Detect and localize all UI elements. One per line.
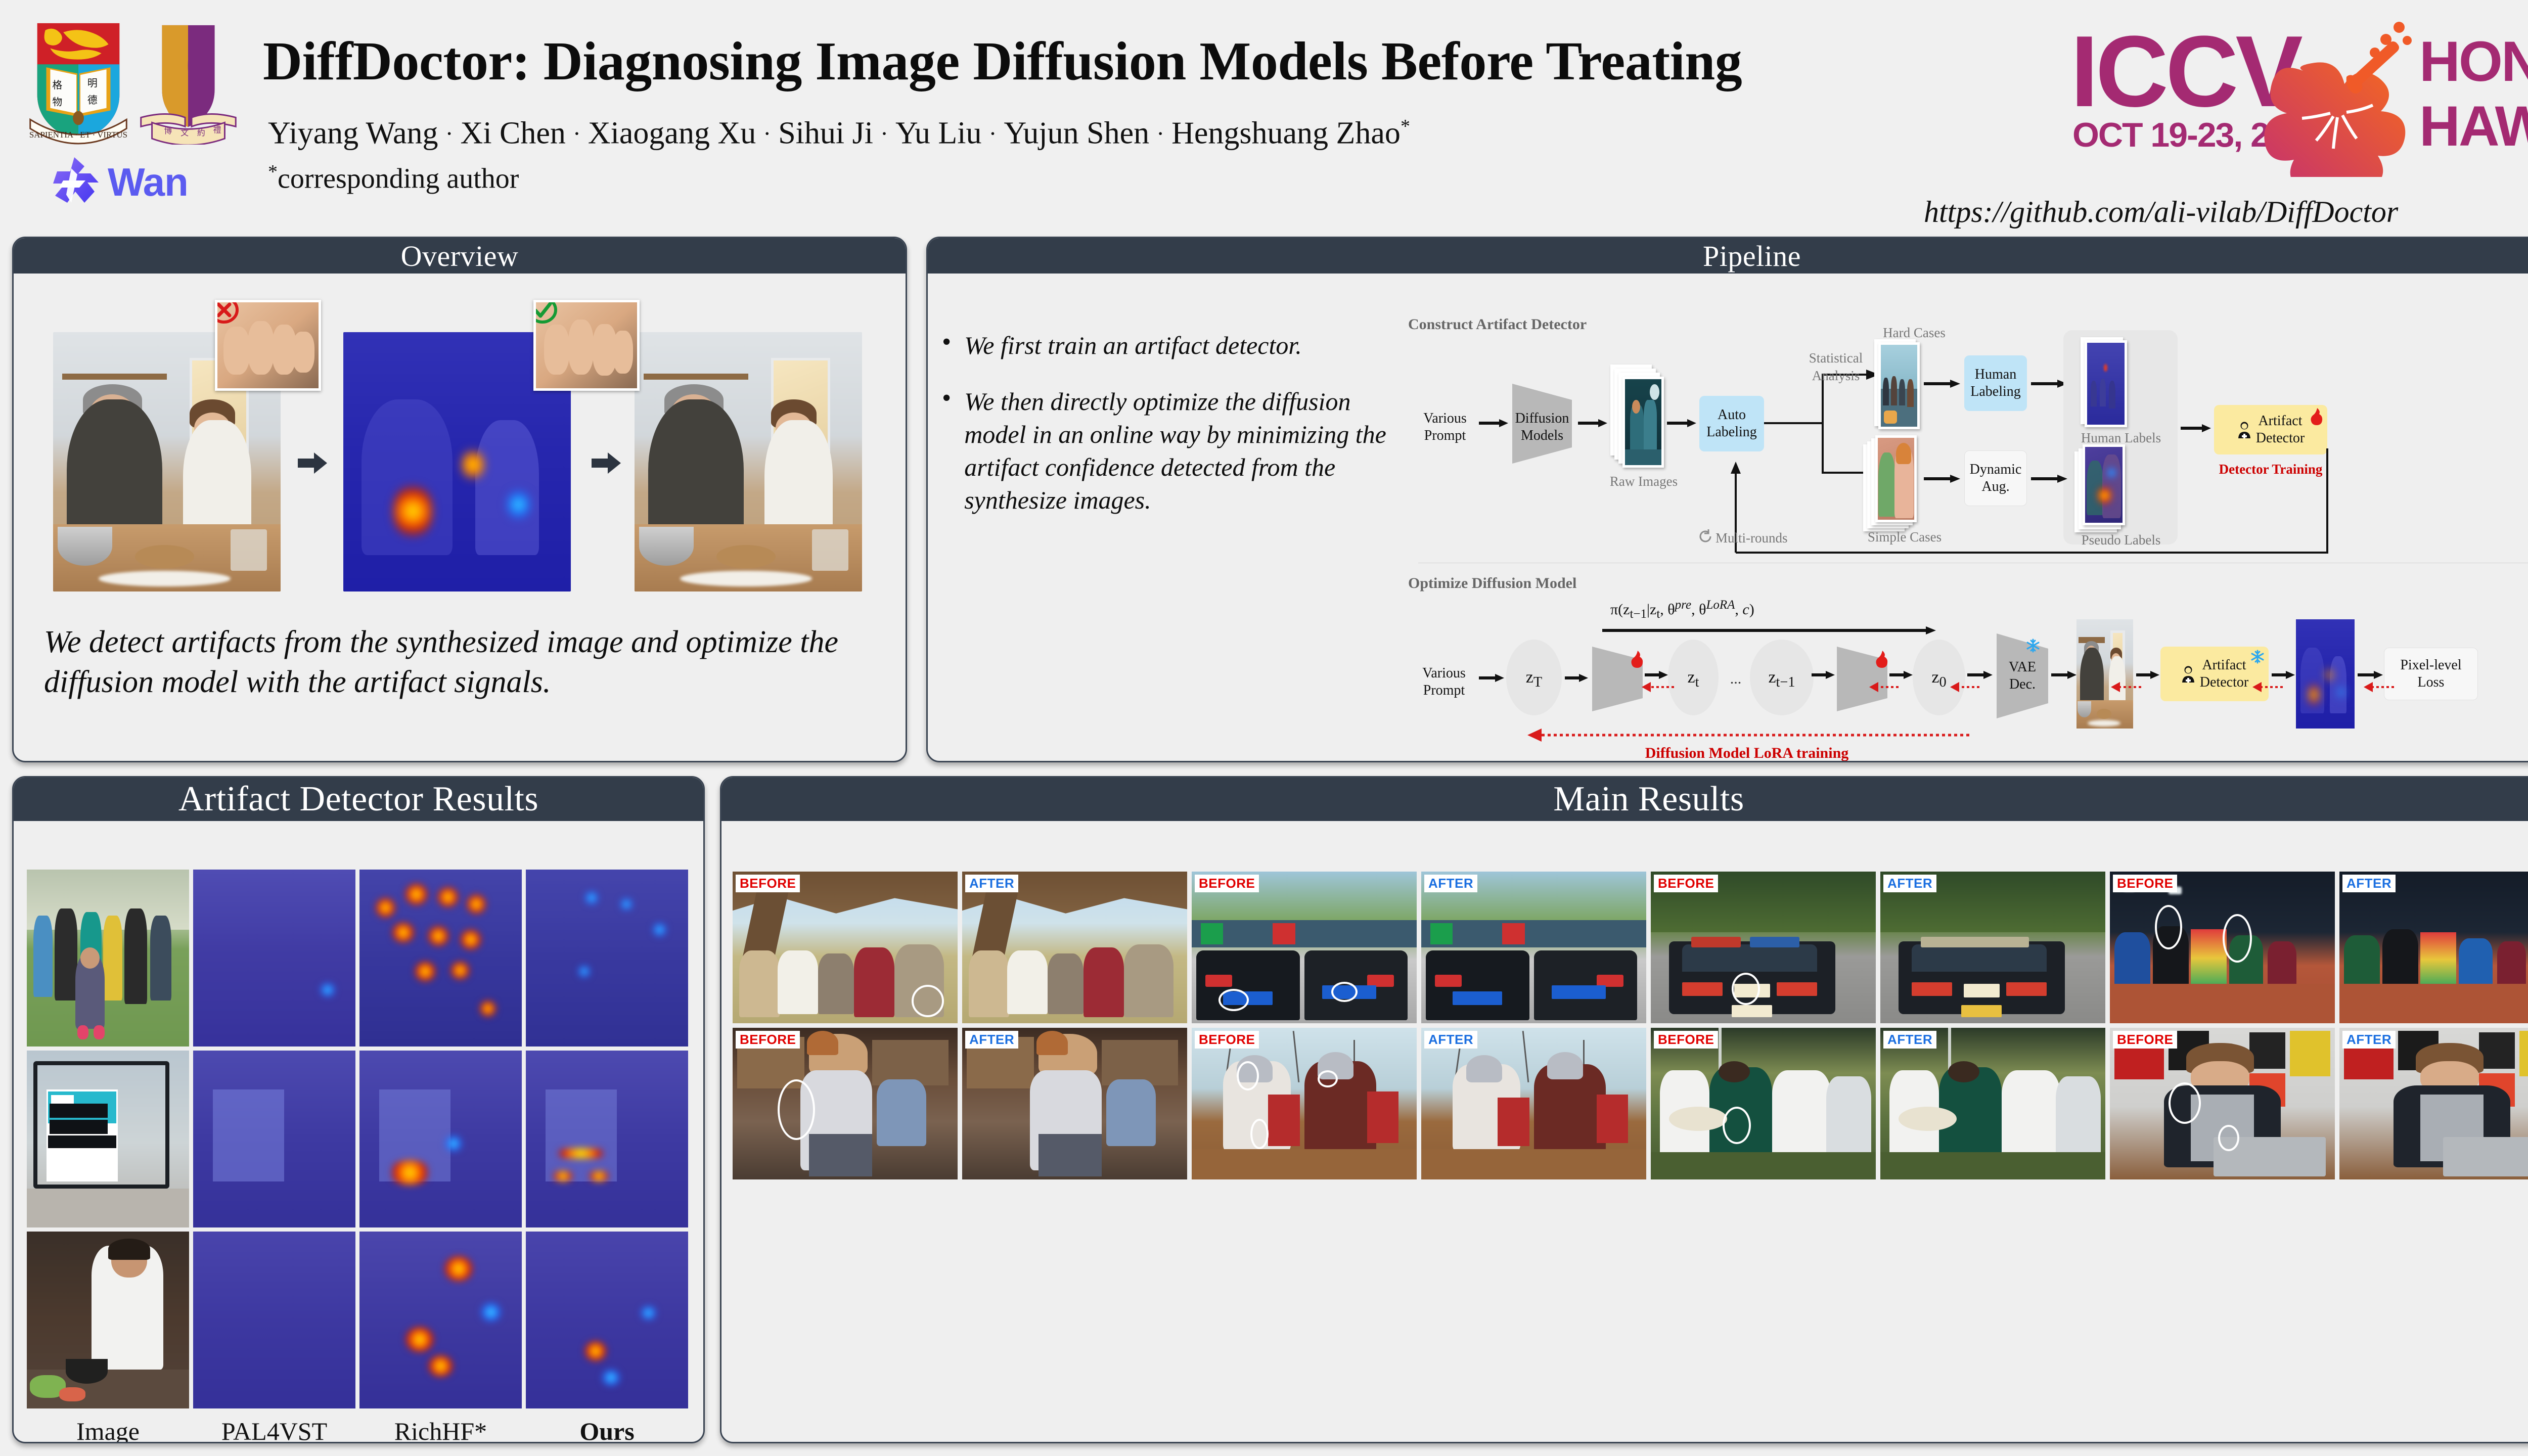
adr-cell-ours-3 [526,1232,688,1408]
main-results-title: Main Results [721,778,2528,821]
artifact-highlight-circle-10 [1250,1119,1269,1149]
iccv-city: HONOLULU [2419,30,2528,93]
overview-crop-after [533,300,640,391]
gradient-flow-arrows [1575,678,2394,698]
after-tag-5: AFTER [965,1031,1018,1049]
adr-cell-richhf-1 [359,870,522,1046]
author-5: Yujun Shen [1004,116,1149,151]
stage-one-title: Construct Artifact Detector [1408,316,1587,333]
artifact-highlight-circle-5 [2155,905,2182,949]
author-0: Yiyang Wang [268,116,438,151]
after-tag-4: AFTER [2342,875,2396,892]
wan-logo: Wan [48,152,200,212]
hku-motto: SAPIENTIA · ET · VIRTUS [29,130,127,140]
artifact-highlight-circle-7 [778,1079,815,1140]
bullet-dot-icon-1: • [942,329,951,362]
artifact-highlight-circle-12 [2169,1082,2201,1124]
adr-grid [27,870,691,1413]
corresponding-text: corresponding author [278,163,519,195]
pipeline-diagram: Construct Artifact Detector VariousPromp… [1408,316,2528,761]
generated-image-node [2076,619,2133,729]
mr-cell-cavalry-before: BEFORE [1192,1028,1417,1179]
pipeline-bullet-text-1: We first train an artifact detector. [964,329,1302,362]
main-results-row-2: BEFORE AFTER [733,1028,2528,1179]
flame-icon-2 [1631,651,1644,668]
mr-cell-sprinters-before: BEFORE [2110,872,2335,1023]
mr-cell-rugby-after: AFTER [1880,1028,2105,1179]
arrow-icon-s2-1 [1479,673,1504,683]
adr-cell-pal4vst-3 [193,1232,355,1408]
wan-label: Wan [108,159,188,205]
corresponding-star: * [268,161,278,183]
pipeline-bullets: • We first train an artifact detector. •… [942,329,1397,540]
author-2: Xiaogang Xu [588,116,756,151]
mr-cell-cavalry-after: AFTER [1421,1028,1646,1179]
corresponding-note: *corresponding author [268,161,519,195]
human-labels-label: Human Labels [2065,430,2177,446]
raw-images-label: Raw Images [1608,474,1679,489]
iccv-name: ICCV [2070,15,2303,128]
main-results-grid: BEFORE AFTER [733,872,2528,1184]
lora-training-label: Diffusion Model LoRA training [1524,745,1969,762]
latent-zT-label: zT [1506,667,1562,691]
diffusion-models-label: DiffusionModels [1509,410,1575,444]
mr-cell-desk-before: BEFORE [2110,1028,2335,1179]
mr-cell-cars-before: BEFORE [1192,872,1417,1023]
svg-text:禮: 禮 [213,125,221,134]
pipeline-bullet-2: • We then directly optimize the diffusio… [942,385,1397,517]
artifact-highlight-circle-11 [1723,1107,1751,1144]
statistical-analysis-label: StatisticalAnalysis [1795,349,1876,385]
before-tag-1: BEFORE [736,875,800,892]
pixel-level-loss-node: Pixel-levelLoss [2384,648,2478,700]
artifact-highlight-circle-3 [1331,982,1358,1002]
wan-mark-icon [48,154,104,210]
overview-crop-before [215,300,321,391]
svg-text:約: 約 [197,128,205,138]
mr-cell-rugby-before: BEFORE [1651,1028,1876,1179]
bullet-dot-icon-2: • [942,385,951,517]
svg-text:博: 博 [164,126,172,135]
pipeline-bullet-text-2: We then directly optimize the diffusion … [964,385,1397,517]
after-tag-6: AFTER [1424,1031,1477,1049]
refresh-loop-icon [1697,528,1713,544]
cuhk-logo: 博文 約禮 [137,19,240,145]
artifact-highlight-circle-2 [1218,989,1249,1011]
adr-label-richhf: RichHF* [359,1417,522,1443]
diagram-divider [1418,563,2528,563]
mr-cell-dog-after: AFTER [962,1028,1187,1179]
page-title: DiffDoctor: Diagnosing Image Diffusion M… [263,30,2053,93]
after-tag-3: AFTER [1883,875,1936,892]
before-tag-4: BEFORE [2113,875,2177,892]
mr-cell-cars-after: AFTER [1421,872,1646,1023]
panel-main-results: Main Results BEFORE [720,776,2528,1443]
pipeline-bullet-1: • We first train an artifact detector. [942,329,1397,362]
before-tag-2: BEFORE [1195,875,1259,892]
after-tag-1: AFTER [965,875,1018,892]
poster-header: 格 明 物 德 SAPIENTIA · ET · VIRTUS [0,0,2528,230]
overview-image-optimized [635,332,862,591]
multi-rounds-label: Multi-rounds [1716,530,1788,546]
panel-overview: Overview [12,237,907,762]
stage-one-input-label: VariousPrompt [1412,410,1478,444]
github-link[interactable]: https://github.com/ali-vilab/DiffDoctor [1924,195,2398,230]
adr-cell-richhf-2 [359,1051,522,1227]
snowflake-icon-1 [2026,639,2040,653]
mr-cell-ancient-after: AFTER [962,872,1187,1023]
mr-cell-police-after: AFTER [1880,872,2105,1023]
adr-title: Artifact Detector Results [14,778,703,821]
arrow-icon-s1-8 [2181,423,2211,433]
arrow-icon-s1-3 [1667,418,1696,428]
before-tag-7: BEFORE [1654,1031,1718,1049]
before-tag-8: BEFORE [2113,1031,2177,1049]
lora-training-arrow [1524,726,1969,744]
adr-row-runners [27,870,691,1046]
author-list: Yiyang Wang·Xi Chen·Xiaogang Xu·Sihui Ji… [268,115,2038,152]
auto-labeling-node: AutoLabeling [1699,396,1764,451]
artifact-highlight-circle-1 [912,985,944,1017]
artifact-detector-label: ArtifactDetector [2256,413,2305,446]
before-tag-5: BEFORE [736,1031,800,1049]
mr-cell-ancient-before: BEFORE [733,872,958,1023]
after-tag-2: AFTER [1424,875,1477,892]
author-4: Yu Liu [895,116,982,151]
adr-column-labels: Image PAL4VST RichHF* Ours [27,1417,691,1443]
hku-char-3: 物 [52,97,62,108]
adr-cell-image-2 [27,1051,189,1227]
flame-icon-1 [2310,408,2323,425]
adr-cell-ours-1 [526,870,688,1046]
author-1: Xi Chen [461,116,566,151]
artifact-detector-node: ArtifactDetector [2214,405,2327,454]
forward-process-arrow [1602,625,1936,635]
snowflake-icon-2 [2250,650,2265,664]
author-6: Hengshuang Zhao [1171,116,1401,151]
adr-label-pal4vst: PAL4VST [193,1417,355,1443]
adr-cell-image-3 [27,1232,189,1408]
hku-char-1: 格 [52,79,62,91]
adr-cell-richhf-3 [359,1232,522,1408]
multi-rounds-loop [1728,448,2334,565]
poster-root: 格 明 物 德 SAPIENTIA · ET · VIRTUS [0,0,2528,1456]
arrow-icon-s1-1 [1479,418,1508,428]
iccv-state: HAWAII [2419,95,2528,158]
artifact-highlight-circle-4 [1732,973,1760,1005]
arrow-right-icon-1 [298,451,327,475]
before-tag-3: BEFORE [1654,875,1718,892]
overview-image-row [14,300,906,593]
mr-cell-sprinters-after: AFTER [2339,872,2528,1023]
main-results-row-1: BEFORE AFTER [733,872,2528,1023]
adr-label-image: Image [27,1417,189,1443]
before-tag-6: BEFORE [1195,1031,1259,1049]
check-badge-icon [533,300,558,326]
iccv-conference-logo: ICCV OCT 19-23, 2025 [2065,10,2528,177]
mr-cell-police-before: BEFORE [1651,872,1876,1023]
pi-formula: π(zt−1|zt, θpre, θLoRA, c) [1610,598,1754,621]
overview-title: Overview [14,238,906,274]
hku-char-2: 明 [87,77,98,89]
cross-badge-icon [215,300,240,326]
artifact-highlight-circle-6 [2223,914,2252,963]
panel-pipeline: Pipeline • We first train an artifact de… [926,237,2528,762]
human-labeling-node: HumanLabeling [1964,355,2027,411]
mr-cell-desk-after: AFTER [2339,1028,2528,1179]
arrow-icon-s1-4 [1924,379,1960,389]
adr-cell-pal4vst-2 [193,1051,355,1227]
author-6-star: * [1401,116,1410,137]
hku-logo: 格 明 物 德 SAPIENTIA · ET · VIRTUS [28,19,129,145]
artifact-highlight-circle-8 [1237,1061,1259,1090]
pipeline-title: Pipeline [928,238,2528,274]
arrow-right-icon-2 [592,451,621,475]
adr-row-busstop [27,1051,691,1227]
artifact-highlight-circle-9 [1318,1070,1338,1087]
adr-cell-ours-2 [526,1051,688,1227]
adr-cell-pal4vst-1 [193,870,355,1046]
artifact-highlight-circle-13 [2218,1125,2239,1151]
doctor-icon [2237,421,2252,438]
svg-text:文: 文 [180,128,189,138]
hard-cases-label: Hard Cases [1871,325,1957,341]
adr-label-ours: Ours [526,1417,688,1443]
hku-char-4: 德 [87,95,98,106]
artifact-heatmap-node [2296,619,2355,729]
stage-two-input-label: VariousPrompt [1411,665,1477,699]
after-tag-7: AFTER [1883,1031,1936,1049]
after-tag-8: AFTER [2342,1031,2396,1049]
arrow-icon-s1-5 [2031,379,2067,389]
panel-artifact-detector-results: Artifact Detector Results [12,776,705,1443]
overview-caption: We detect artifacts from the synthesized… [44,622,878,703]
mr-cell-dog-before: BEFORE [733,1028,958,1179]
author-3: Sihui Ji [778,116,873,151]
adr-row-chef [27,1232,691,1408]
adr-cell-image-1 [27,870,189,1046]
flame-icon-3 [1875,651,1888,668]
stage-two-title: Optimize Diffusion Model [1408,575,1576,592]
arrow-icon-s1-2 [1578,418,1607,428]
